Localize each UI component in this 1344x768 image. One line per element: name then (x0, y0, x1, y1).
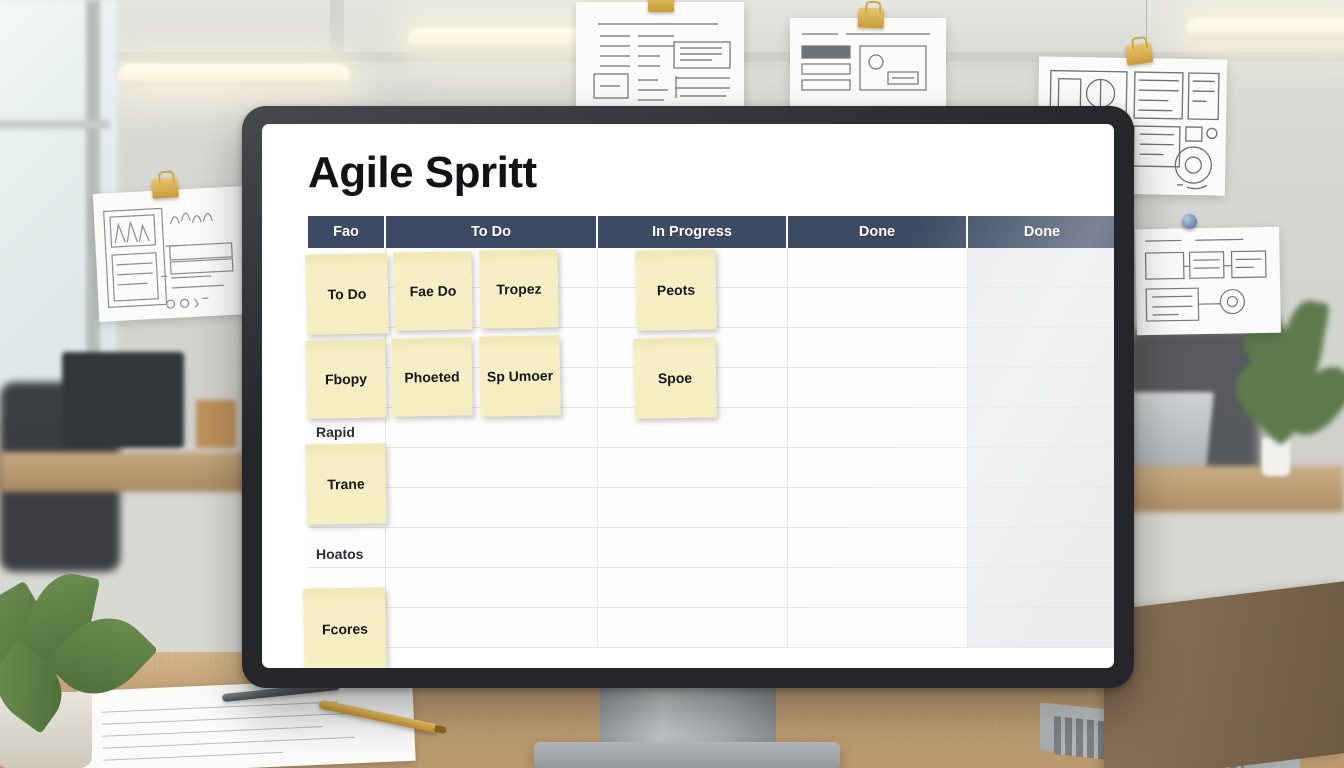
grid-cell[interactable] (788, 608, 968, 648)
grid-cell[interactable] (386, 528, 598, 568)
board-header-row: Fao To Do In Progress Done Done (308, 216, 1114, 248)
grid-cell[interactable] (598, 448, 788, 488)
grid-cell[interactable] (788, 408, 968, 448)
ceiling-light-c (1186, 18, 1344, 40)
column-header-done-2[interactable]: Done (968, 216, 1114, 248)
grid-cell[interactable] (386, 608, 598, 648)
grid-cell[interactable] (788, 488, 968, 528)
potted-plant (0, 566, 160, 768)
column-header-fao[interactable]: Fao (308, 216, 386, 248)
push-pin-icon (1182, 214, 1197, 229)
grid-cell[interactable] (598, 608, 788, 648)
ceiling-light-a (118, 64, 350, 86)
sticky-note[interactable]: Fae Do (393, 251, 472, 330)
grid-cell[interactable] (968, 368, 1114, 408)
table-row (308, 448, 1114, 488)
agile-board: Agile Spritt Fao To Do In Progress Done … (262, 124, 1114, 668)
grid-cell[interactable] (788, 368, 968, 408)
grid-cell[interactable] (968, 328, 1114, 368)
grid-cell[interactable] (788, 448, 968, 488)
grid-cell[interactable] (386, 448, 598, 488)
monitor-stand-base (534, 742, 840, 768)
sticky-note[interactable]: Spoe (633, 337, 716, 418)
binder-clip-icon (858, 8, 885, 29)
grid-cell[interactable] (788, 568, 968, 608)
window-sill (0, 120, 110, 129)
grid-cell[interactable] (968, 288, 1114, 328)
wireframe-sketch-poster-1 (93, 186, 249, 322)
binder-clip-icon (1125, 42, 1154, 65)
background-desk-object (196, 400, 236, 448)
grid-cell[interactable] (788, 288, 968, 328)
sticky-note[interactable]: Sp Umoer (479, 335, 560, 416)
grid-cell[interactable] (598, 528, 788, 568)
sticky-note[interactable]: Peots (635, 249, 716, 330)
table-row (308, 568, 1114, 608)
grid-cell[interactable] (968, 568, 1114, 608)
column-header-todo[interactable]: To Do (386, 216, 598, 248)
sticky-note[interactable]: Tropez (479, 249, 558, 328)
grid-cell[interactable] (386, 488, 598, 528)
grid-cell[interactable] (598, 488, 788, 528)
ceiling-beam-2 (330, 0, 344, 60)
board-table: Fao To Do In Progress Done Done (308, 216, 1114, 648)
wireframe-sketch-poster-2 (576, 2, 744, 110)
monitor-screen[interactable]: Agile Spritt Fao To Do In Progress Done … (262, 124, 1114, 668)
laptop-lid (1104, 581, 1344, 768)
binder-clip-icon (648, 0, 674, 12)
grid-cell[interactable] (968, 488, 1114, 528)
office-scene: Agile Spritt Fao To Do In Progress Done … (0, 0, 1344, 768)
cell-label-rapid[interactable]: Rapid (316, 424, 355, 440)
sticky-note[interactable]: Fcores (303, 587, 386, 668)
table-row (308, 608, 1114, 648)
grid-cell[interactable] (788, 528, 968, 568)
binder-clip-icon (151, 177, 178, 199)
table-row (308, 488, 1114, 528)
grid-cell[interactable] (968, 608, 1114, 648)
wireframe-sketch-poster-5 (1135, 227, 1281, 335)
grid-cell[interactable] (788, 248, 968, 288)
sticky-note[interactable]: Phoeted (391, 337, 472, 416)
grid-cell[interactable] (598, 568, 788, 608)
cell-label-hoatos[interactable]: Hoatos (316, 546, 363, 562)
background-monitor (62, 352, 184, 448)
sticky-note[interactable]: Trane (305, 443, 386, 524)
column-header-in-progress[interactable]: In Progress (598, 216, 788, 248)
desktop-monitor: Agile Spritt Fao To Do In Progress Done … (242, 106, 1134, 688)
grid-cell[interactable] (968, 248, 1114, 288)
grid-cell[interactable] (968, 528, 1114, 568)
sticky-note[interactable]: Fbopy (305, 339, 386, 418)
column-header-done-1[interactable]: Done (788, 216, 968, 248)
grid-cell[interactable] (788, 328, 968, 368)
sticky-note[interactable]: To Do (305, 253, 388, 334)
grid-cell[interactable] (968, 448, 1114, 488)
table-row (308, 528, 1114, 568)
page-title: Agile Spritt (308, 148, 537, 198)
wireframe-sketch-poster-3 (790, 18, 946, 108)
grid-cell[interactable] (968, 408, 1114, 448)
grid-cell[interactable] (386, 568, 598, 608)
